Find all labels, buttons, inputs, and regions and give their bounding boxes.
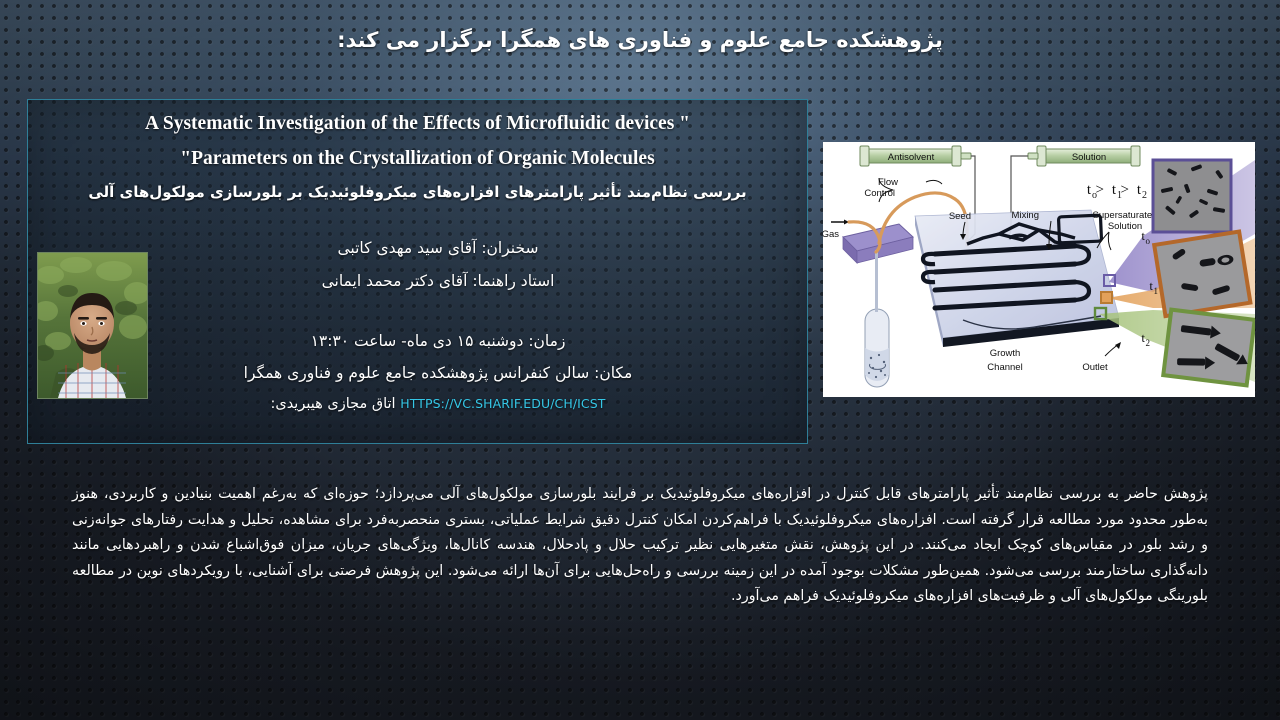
figure-label-solution: Solution bbox=[1072, 152, 1106, 163]
micrograph-t0 bbox=[1153, 160, 1231, 232]
figure-label-growth-2: Channel bbox=[987, 362, 1022, 373]
svg-text:2: 2 bbox=[1142, 190, 1147, 201]
micrograph-t2 bbox=[1163, 310, 1255, 386]
figure-label-supersaturated-1: Supersaturated bbox=[1093, 210, 1158, 221]
english-title-line-2: "Parameters on the Crystallization of Or… bbox=[28, 148, 807, 170]
announcement-card-inner: A Systematic Investigation of the Effect… bbox=[28, 100, 807, 443]
micrograph-t1 bbox=[1154, 232, 1250, 317]
svg-text:<: < bbox=[1096, 182, 1104, 198]
figure-label-seed: Seed bbox=[949, 211, 971, 222]
figure-label-flow: Flow bbox=[878, 177, 898, 188]
event-time: زمان: دوشنبه ۱۵ دی ماه- ساعت ۱۳:۳۰ bbox=[158, 332, 718, 350]
svg-text:<: < bbox=[1121, 182, 1129, 198]
speaker-portrait-photo bbox=[37, 252, 148, 399]
svg-text:2: 2 bbox=[1146, 338, 1151, 348]
english-title-line-1: A Systematic Investigation of the Effect… bbox=[28, 113, 807, 135]
figure-label-antisolvent: Antisolvent bbox=[888, 152, 935, 163]
portrait-image bbox=[38, 253, 147, 398]
persian-title: بررسی نظام‌مند تأثیر پارامترهای افزاره‌ه… bbox=[28, 183, 807, 201]
event-location: مکان: سالن کنفرانس پژوهشکده جامع علوم و … bbox=[158, 364, 718, 382]
figure-label-outlet: Outlet bbox=[1082, 362, 1108, 373]
svg-text:o: o bbox=[1146, 236, 1151, 246]
figure-label-gas: Gas bbox=[823, 229, 839, 240]
advisor-name: استاد راهنما: آقای دکتر محمد ایمانی bbox=[158, 272, 718, 290]
microfluidic-diagram: Antisolvent Solution Gas Flow Control bbox=[823, 142, 1255, 397]
virtual-room-label: اتاق مجازی هیبریدی: bbox=[270, 396, 395, 412]
microfluidic-chip bbox=[915, 210, 1119, 347]
figure-label-growth-1: Growth bbox=[990, 348, 1021, 359]
organizer-header: پژوهشکده جامع علوم و فناوری های همگرا بر… bbox=[0, 18, 1280, 62]
announcement-card: A Systematic Investigation of the Effect… bbox=[27, 99, 808, 444]
virtual-room-url[interactable]: HTTPS://VC.SHARIF.EDU/CH/ICST bbox=[400, 396, 605, 411]
abstract-paragraph: پژوهش حاضر به بررسی نظام‌مند تأثیر پارام… bbox=[72, 482, 1208, 610]
microfluidic-schematic-figure: Antisolvent Solution Gas Flow Control bbox=[823, 142, 1255, 397]
figure-label-supersaturated-2: Solution bbox=[1108, 221, 1142, 232]
figure-label-mixing: Mixing bbox=[1012, 210, 1039, 221]
organizer-header-text: پژوهشکده جامع علوم و فناوری های همگرا بر… bbox=[337, 28, 943, 52]
speaker-name: سخنران: آقای سید مهدی کاتبی bbox=[158, 239, 718, 257]
svg-text:1: 1 bbox=[1154, 286, 1159, 296]
virtual-room-line: HTTPS://VC.SHARIF.EDU/CH/ICST اتاق مجازی… bbox=[158, 396, 718, 412]
